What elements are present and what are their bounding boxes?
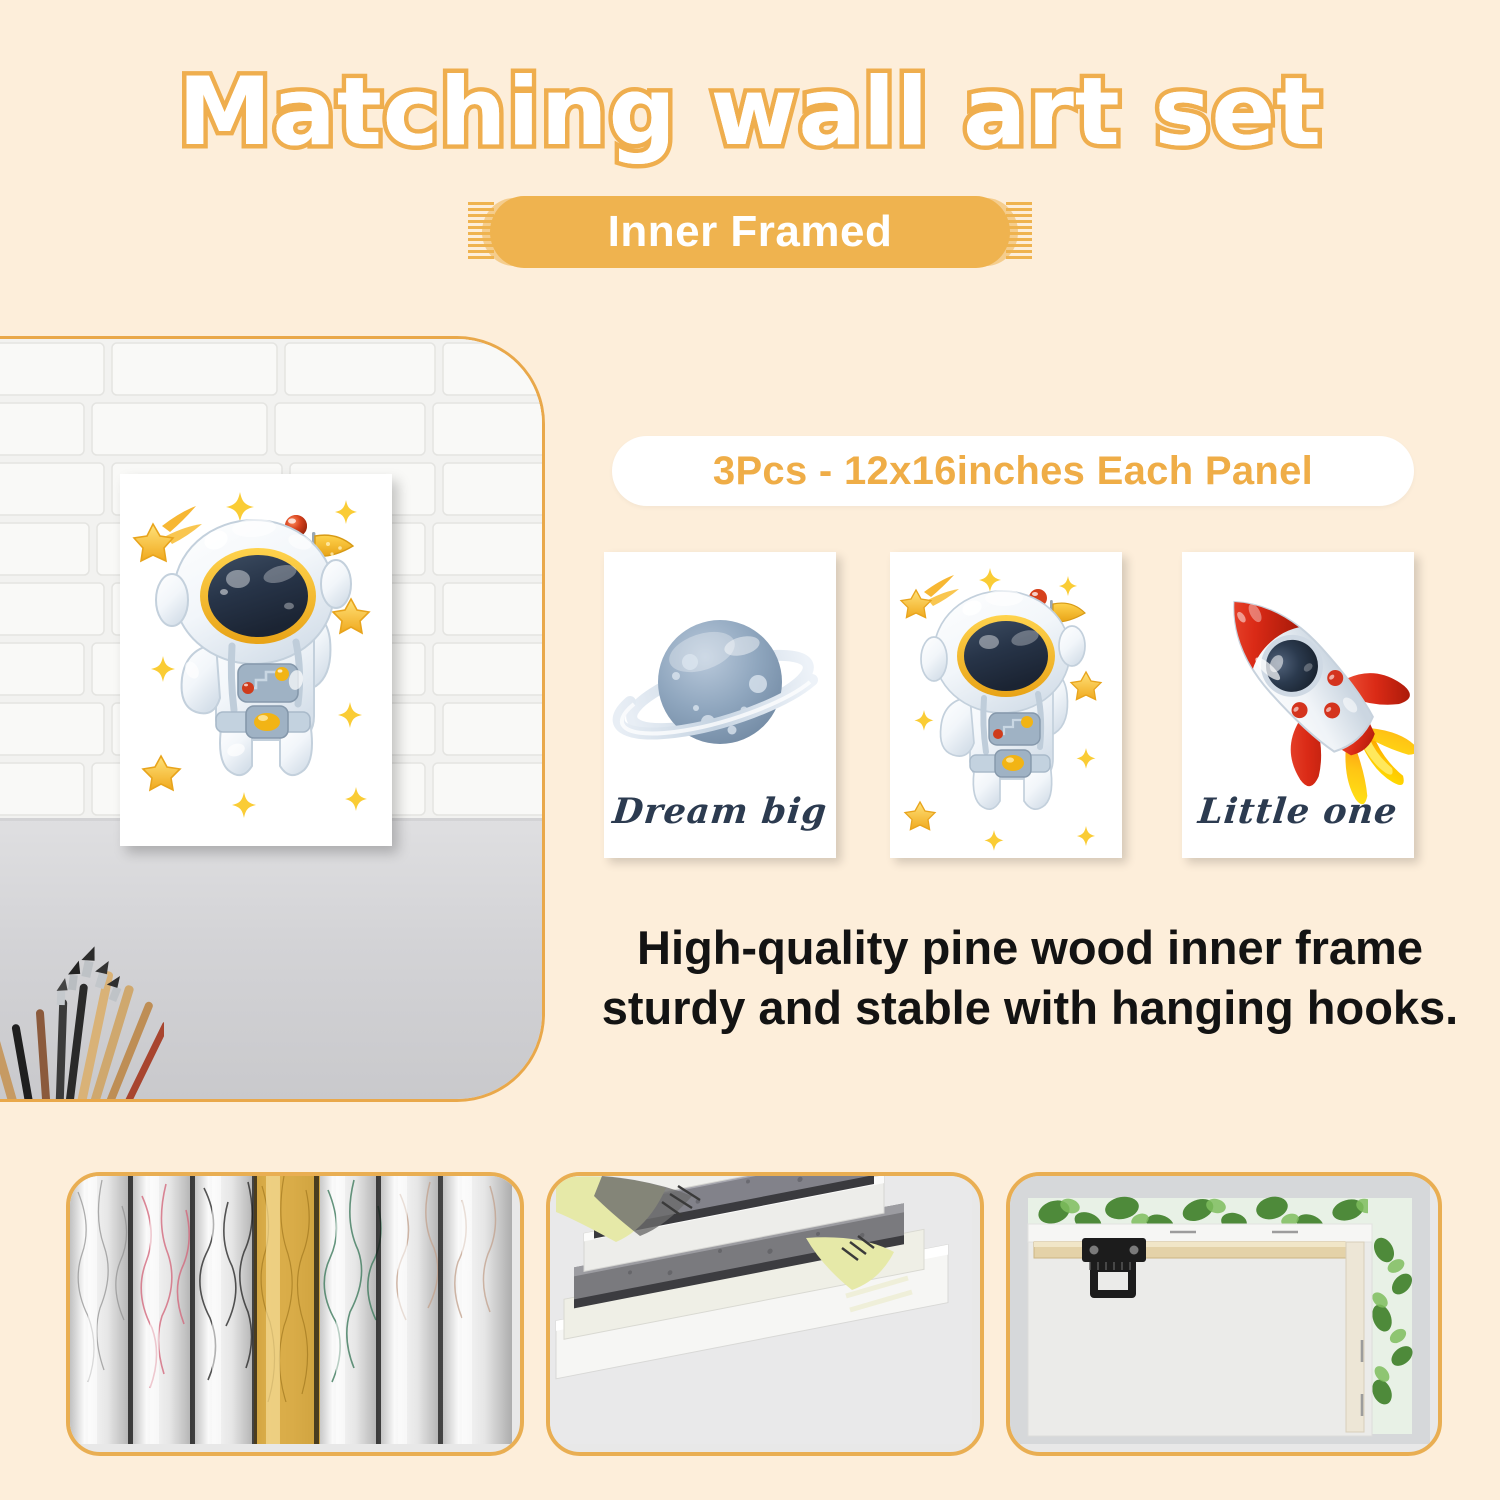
chest-control-panel	[989, 713, 1040, 745]
astronaut-artwork-small	[890, 552, 1122, 858]
panel-little-one: Little one	[1182, 552, 1414, 858]
panel-astronaut	[890, 552, 1122, 858]
subtitle-banner: Inner Framed	[490, 196, 1010, 268]
potted-plant	[0, 1081, 70, 1102]
panel-set: Dream big	[600, 552, 1430, 864]
panel-caption: Dream big	[604, 791, 836, 832]
astronaut-artwork-large	[120, 474, 392, 846]
panel-caption: Little one	[1182, 791, 1414, 832]
panel-dream-big: Dream big	[604, 552, 836, 858]
feature-line-1: High-quality pine wood inner frame	[600, 918, 1460, 978]
feature-line-2: sturdy and stable with hanging hooks.	[600, 978, 1460, 1038]
photo-canvas-rolls	[66, 1172, 524, 1456]
photo-frame-back-hook	[1006, 1172, 1442, 1456]
canvas-back-frame-image	[1010, 1176, 1430, 1444]
foam-packaging-stack-image	[550, 1176, 972, 1444]
hero-canvas-print	[120, 474, 392, 846]
subtitle-text: Inner Framed	[490, 196, 1010, 268]
size-badge-text: 3Pcs - 12x16inches Each Panel	[713, 449, 1313, 494]
hero-lifestyle-photo	[0, 336, 545, 1102]
page-title: Matching wall art set	[0, 58, 1500, 167]
size-badge: 3Pcs - 12x16inches Each Panel	[612, 436, 1414, 506]
brushes-and-pencils	[0, 939, 164, 1102]
feature-description: High-quality pine wood inner frame sturd…	[600, 918, 1460, 1038]
marble-canvas-rolls-image	[70, 1176, 512, 1444]
photo-packaging-stack	[546, 1172, 984, 1456]
